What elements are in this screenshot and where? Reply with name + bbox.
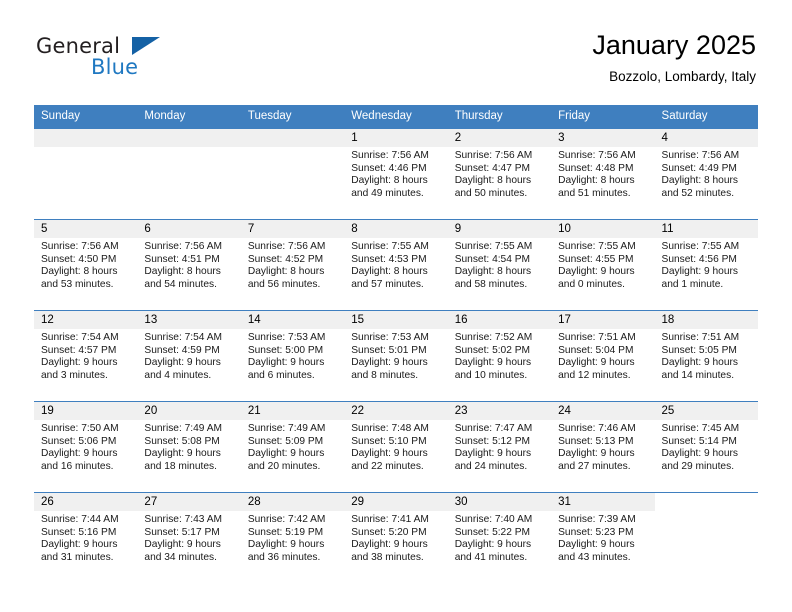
day-number: 15 xyxy=(344,311,447,329)
daylight-duration-line1: Daylight: 9 hours xyxy=(455,357,544,370)
sunset-time: Sunset: 5:13 PM xyxy=(558,436,647,449)
day-number: 31 xyxy=(551,493,654,511)
calendar-day-cell[interactable]: 3Sunrise: 7:56 AMSunset: 4:48 PMDaylight… xyxy=(551,129,654,220)
calendar-day-cell[interactable]: 29Sunrise: 7:41 AMSunset: 5:20 PMDayligh… xyxy=(344,493,447,584)
day-number: 30 xyxy=(448,493,551,511)
sunrise-time: Sunrise: 7:42 AM xyxy=(248,514,337,527)
day-number: 3 xyxy=(551,129,654,147)
calendar-day-cell[interactable]: 31Sunrise: 7:39 AMSunset: 5:23 PMDayligh… xyxy=(551,493,654,584)
calendar-week-row: 12Sunrise: 7:54 AMSunset: 4:57 PMDayligh… xyxy=(34,311,758,402)
sunset-time: Sunset: 5:00 PM xyxy=(248,345,337,358)
daylight-duration-line1: Daylight: 9 hours xyxy=(558,539,647,552)
calendar-day-cell[interactable]: 26Sunrise: 7:44 AMSunset: 5:16 PMDayligh… xyxy=(34,493,137,584)
sunset-time: Sunset: 5:12 PM xyxy=(455,436,544,449)
daylight-duration-line2: and 54 minutes. xyxy=(144,279,233,292)
weekday-header-thursday: Thursday xyxy=(448,105,551,129)
sunset-time: Sunset: 5:16 PM xyxy=(41,527,130,540)
sunrise-time: Sunrise: 7:39 AM xyxy=(558,514,647,527)
daylight-duration-line2: and 0 minutes. xyxy=(558,279,647,292)
day-number xyxy=(655,493,758,511)
daylight-duration-line2: and 8 minutes. xyxy=(351,370,440,383)
day-sun-info: Sunrise: 7:42 AMSunset: 5:19 PMDaylight:… xyxy=(241,511,344,564)
page-header: General Blue January 2025 Bozzolo, Lomba… xyxy=(36,28,756,90)
daylight-duration-line2: and 36 minutes. xyxy=(248,552,337,565)
calendar-day-cell[interactable]: 8Sunrise: 7:55 AMSunset: 4:53 PMDaylight… xyxy=(344,220,447,311)
day-sun-info: Sunrise: 7:55 AMSunset: 4:56 PMDaylight:… xyxy=(655,238,758,291)
day-sun-info: Sunrise: 7:49 AMSunset: 5:09 PMDaylight:… xyxy=(241,420,344,473)
calendar-day-cell-empty xyxy=(34,129,137,220)
daylight-duration-line1: Daylight: 9 hours xyxy=(558,448,647,461)
day-sun-info: Sunrise: 7:47 AMSunset: 5:12 PMDaylight:… xyxy=(448,420,551,473)
sunset-time: Sunset: 5:05 PM xyxy=(662,345,751,358)
day-number: 22 xyxy=(344,402,447,420)
calendar-day-cell[interactable]: 1Sunrise: 7:56 AMSunset: 4:46 PMDaylight… xyxy=(344,129,447,220)
sunrise-time: Sunrise: 7:48 AM xyxy=(351,423,440,436)
daylight-duration-line2: and 58 minutes. xyxy=(455,279,544,292)
daylight-duration-line1: Daylight: 8 hours xyxy=(455,266,544,279)
daylight-duration-line1: Daylight: 8 hours xyxy=(558,175,647,188)
daylight-duration-line2: and 10 minutes. xyxy=(455,370,544,383)
daylight-duration-line1: Daylight: 9 hours xyxy=(662,357,751,370)
day-sun-info: Sunrise: 7:44 AMSunset: 5:16 PMDaylight:… xyxy=(34,511,137,564)
day-number: 10 xyxy=(551,220,654,238)
calendar-day-cell[interactable]: 11Sunrise: 7:55 AMSunset: 4:56 PMDayligh… xyxy=(655,220,758,311)
sunrise-time: Sunrise: 7:55 AM xyxy=(558,241,647,254)
day-number: 4 xyxy=(655,129,758,147)
daylight-duration-line2: and 43 minutes. xyxy=(558,552,647,565)
daylight-duration-line1: Daylight: 9 hours xyxy=(144,357,233,370)
sunrise-time: Sunrise: 7:44 AM xyxy=(41,514,130,527)
sunset-time: Sunset: 4:57 PM xyxy=(41,345,130,358)
calendar-day-cell[interactable]: 25Sunrise: 7:45 AMSunset: 5:14 PMDayligh… xyxy=(655,402,758,493)
sunset-time: Sunset: 5:10 PM xyxy=(351,436,440,449)
sunset-time: Sunset: 4:51 PM xyxy=(144,254,233,267)
page-title: January 2025 xyxy=(592,28,756,62)
day-number: 12 xyxy=(34,311,137,329)
day-number: 16 xyxy=(448,311,551,329)
day-sun-info: Sunrise: 7:56 AMSunset: 4:46 PMDaylight:… xyxy=(344,147,447,200)
daylight-duration-line1: Daylight: 9 hours xyxy=(662,448,751,461)
daylight-duration-line2: and 57 minutes. xyxy=(351,279,440,292)
calendar-day-cell[interactable]: 21Sunrise: 7:49 AMSunset: 5:09 PMDayligh… xyxy=(241,402,344,493)
calendar-day-cell[interactable]: 2Sunrise: 7:56 AMSunset: 4:47 PMDaylight… xyxy=(448,129,551,220)
day-number: 5 xyxy=(34,220,137,238)
day-sun-info: Sunrise: 7:55 AMSunset: 4:53 PMDaylight:… xyxy=(344,238,447,291)
daylight-duration-line2: and 49 minutes. xyxy=(351,188,440,201)
sunrise-time: Sunrise: 7:47 AM xyxy=(455,423,544,436)
day-number xyxy=(137,129,240,147)
daylight-duration-line2: and 34 minutes. xyxy=(144,552,233,565)
day-sun-info: Sunrise: 7:49 AMSunset: 5:08 PMDaylight:… xyxy=(137,420,240,473)
sunset-time: Sunset: 5:14 PM xyxy=(662,436,751,449)
calendar-day-cell[interactable]: 9Sunrise: 7:55 AMSunset: 4:54 PMDaylight… xyxy=(448,220,551,311)
sunrise-time: Sunrise: 7:56 AM xyxy=(351,150,440,163)
daylight-duration-line1: Daylight: 9 hours xyxy=(351,539,440,552)
calendar-day-cell-empty xyxy=(241,129,344,220)
day-sun-info: Sunrise: 7:56 AMSunset: 4:48 PMDaylight:… xyxy=(551,147,654,200)
calendar-day-cell[interactable]: 5Sunrise: 7:56 AMSunset: 4:50 PMDaylight… xyxy=(34,220,137,311)
daylight-duration-line1: Daylight: 9 hours xyxy=(662,266,751,279)
sunrise-time: Sunrise: 7:56 AM xyxy=(662,150,751,163)
daylight-duration-line2: and 6 minutes. xyxy=(248,370,337,383)
day-sun-info: Sunrise: 7:53 AMSunset: 5:01 PMDaylight:… xyxy=(344,329,447,382)
calendar-header-row: Sunday Monday Tuesday Wednesday Thursday… xyxy=(34,105,758,129)
sunset-time: Sunset: 4:55 PM xyxy=(558,254,647,267)
daylight-duration-line1: Daylight: 9 hours xyxy=(248,448,337,461)
calendar-day-cell[interactable]: 16Sunrise: 7:52 AMSunset: 5:02 PMDayligh… xyxy=(448,311,551,402)
day-sun-info: Sunrise: 7:51 AMSunset: 5:05 PMDaylight:… xyxy=(655,329,758,382)
day-number: 7 xyxy=(241,220,344,238)
day-sun-info: Sunrise: 7:39 AMSunset: 5:23 PMDaylight:… xyxy=(551,511,654,564)
sunrise-time: Sunrise: 7:56 AM xyxy=(144,241,233,254)
sunset-time: Sunset: 4:46 PM xyxy=(351,163,440,176)
day-sun-info: Sunrise: 7:46 AMSunset: 5:13 PMDaylight:… xyxy=(551,420,654,473)
daylight-duration-line1: Daylight: 8 hours xyxy=(248,266,337,279)
day-sun-info: Sunrise: 7:56 AMSunset: 4:49 PMDaylight:… xyxy=(655,147,758,200)
calendar-day-cell[interactable]: 24Sunrise: 7:46 AMSunset: 5:13 PMDayligh… xyxy=(551,402,654,493)
day-number: 2 xyxy=(448,129,551,147)
daylight-duration-line1: Daylight: 9 hours xyxy=(351,448,440,461)
calendar-day-cell[interactable]: 18Sunrise: 7:51 AMSunset: 5:05 PMDayligh… xyxy=(655,311,758,402)
sunset-time: Sunset: 4:56 PM xyxy=(662,254,751,267)
daylight-duration-line2: and 20 minutes. xyxy=(248,461,337,474)
day-sun-info: Sunrise: 7:50 AMSunset: 5:06 PMDaylight:… xyxy=(34,420,137,473)
daylight-duration-line2: and 22 minutes. xyxy=(351,461,440,474)
day-number: 1 xyxy=(344,129,447,147)
daylight-duration-line1: Daylight: 8 hours xyxy=(351,175,440,188)
daylight-duration-line2: and 4 minutes. xyxy=(144,370,233,383)
sunrise-time: Sunrise: 7:55 AM xyxy=(351,241,440,254)
calendar-day-cell[interactable]: 6Sunrise: 7:56 AMSunset: 4:51 PMDaylight… xyxy=(137,220,240,311)
daylight-duration-line1: Daylight: 8 hours xyxy=(351,266,440,279)
day-number: 11 xyxy=(655,220,758,238)
day-number: 23 xyxy=(448,402,551,420)
daylight-duration-line2: and 29 minutes. xyxy=(662,461,751,474)
sunrise-time: Sunrise: 7:56 AM xyxy=(41,241,130,254)
calendar-day-cell[interactable]: 19Sunrise: 7:50 AMSunset: 5:06 PMDayligh… xyxy=(34,402,137,493)
sunrise-time: Sunrise: 7:55 AM xyxy=(662,241,751,254)
sunrise-time: Sunrise: 7:52 AM xyxy=(455,332,544,345)
location-subtitle: Bozzolo, Lombardy, Italy xyxy=(592,67,756,87)
day-sun-info: Sunrise: 7:56 AMSunset: 4:50 PMDaylight:… xyxy=(34,238,137,291)
sunset-time: Sunset: 4:53 PM xyxy=(351,254,440,267)
calendar-week-row: 26Sunrise: 7:44 AMSunset: 5:16 PMDayligh… xyxy=(34,493,758,584)
calendar-day-cell[interactable]: 17Sunrise: 7:51 AMSunset: 5:04 PMDayligh… xyxy=(551,311,654,402)
daylight-duration-line1: Daylight: 9 hours xyxy=(41,357,130,370)
calendar-day-cell[interactable]: 22Sunrise: 7:48 AMSunset: 5:10 PMDayligh… xyxy=(344,402,447,493)
day-number: 25 xyxy=(655,402,758,420)
daylight-duration-line1: Daylight: 9 hours xyxy=(144,448,233,461)
daylight-duration-line2: and 27 minutes. xyxy=(558,461,647,474)
day-sun-info: Sunrise: 7:56 AMSunset: 4:47 PMDaylight:… xyxy=(448,147,551,200)
daylight-duration-line2: and 3 minutes. xyxy=(41,370,130,383)
calendar-day-cell[interactable]: 28Sunrise: 7:42 AMSunset: 5:19 PMDayligh… xyxy=(241,493,344,584)
day-number xyxy=(241,129,344,147)
sunrise-time: Sunrise: 7:49 AM xyxy=(248,423,337,436)
daylight-duration-line2: and 41 minutes. xyxy=(455,552,544,565)
calendar-day-cell[interactable]: 27Sunrise: 7:43 AMSunset: 5:17 PMDayligh… xyxy=(137,493,240,584)
day-sun-info: Sunrise: 7:54 AMSunset: 4:59 PMDaylight:… xyxy=(137,329,240,382)
day-sun-info: Sunrise: 7:53 AMSunset: 5:00 PMDaylight:… xyxy=(241,329,344,382)
daylight-duration-line1: Daylight: 9 hours xyxy=(455,448,544,461)
day-number: 14 xyxy=(241,311,344,329)
calendar-day-cell[interactable]: 14Sunrise: 7:53 AMSunset: 5:00 PMDayligh… xyxy=(241,311,344,402)
daylight-duration-line1: Daylight: 9 hours xyxy=(351,357,440,370)
daylight-duration-line2: and 56 minutes. xyxy=(248,279,337,292)
sunset-time: Sunset: 5:08 PM xyxy=(144,436,233,449)
weekday-header-sunday: Sunday xyxy=(34,105,137,129)
calendar-day-cell[interactable]: 15Sunrise: 7:53 AMSunset: 5:01 PMDayligh… xyxy=(344,311,447,402)
sunrise-time: Sunrise: 7:54 AM xyxy=(144,332,233,345)
calendar-day-cell[interactable]: 30Sunrise: 7:40 AMSunset: 5:22 PMDayligh… xyxy=(448,493,551,584)
sunset-time: Sunset: 5:17 PM xyxy=(144,527,233,540)
sunset-time: Sunset: 5:01 PM xyxy=(351,345,440,358)
day-sun-info: Sunrise: 7:54 AMSunset: 4:57 PMDaylight:… xyxy=(34,329,137,382)
calendar-day-cell[interactable]: 7Sunrise: 7:56 AMSunset: 4:52 PMDaylight… xyxy=(241,220,344,311)
sunrise-time: Sunrise: 7:41 AM xyxy=(351,514,440,527)
daylight-duration-line1: Daylight: 9 hours xyxy=(455,539,544,552)
day-sun-info: Sunrise: 7:48 AMSunset: 5:10 PMDaylight:… xyxy=(344,420,447,473)
sunset-time: Sunset: 5:06 PM xyxy=(41,436,130,449)
sunrise-time: Sunrise: 7:56 AM xyxy=(248,241,337,254)
calendar-day-cell[interactable]: 4Sunrise: 7:56 AMSunset: 4:49 PMDaylight… xyxy=(655,129,758,220)
sunset-time: Sunset: 5:04 PM xyxy=(558,345,647,358)
sunset-time: Sunset: 5:22 PM xyxy=(455,527,544,540)
day-number: 13 xyxy=(137,311,240,329)
daylight-duration-line2: and 31 minutes. xyxy=(41,552,130,565)
blue-flag-icon xyxy=(132,37,160,55)
daylight-duration-line2: and 14 minutes. xyxy=(662,370,751,383)
sunset-time: Sunset: 5:19 PM xyxy=(248,527,337,540)
daylight-duration-line1: Daylight: 9 hours xyxy=(144,539,233,552)
day-number: 26 xyxy=(34,493,137,511)
sunrise-time: Sunrise: 7:51 AM xyxy=(662,332,751,345)
daylight-duration-line2: and 51 minutes. xyxy=(558,188,647,201)
sunrise-time: Sunrise: 7:40 AM xyxy=(455,514,544,527)
sunset-time: Sunset: 4:50 PM xyxy=(41,254,130,267)
day-sun-info: Sunrise: 7:56 AMSunset: 4:52 PMDaylight:… xyxy=(241,238,344,291)
day-number: 17 xyxy=(551,311,654,329)
weekday-header-tuesday: Tuesday xyxy=(241,105,344,129)
daylight-duration-line1: Daylight: 8 hours xyxy=(144,266,233,279)
day-number: 27 xyxy=(137,493,240,511)
daylight-duration-line1: Daylight: 9 hours xyxy=(41,539,130,552)
calendar-day-cell[interactable]: 23Sunrise: 7:47 AMSunset: 5:12 PMDayligh… xyxy=(448,402,551,493)
brand-logo[interactable]: General Blue xyxy=(36,34,236,86)
sunrise-time: Sunrise: 7:54 AM xyxy=(41,332,130,345)
calendar-day-cell[interactable]: 13Sunrise: 7:54 AMSunset: 4:59 PMDayligh… xyxy=(137,311,240,402)
day-sun-info: Sunrise: 7:40 AMSunset: 5:22 PMDaylight:… xyxy=(448,511,551,564)
calendar-day-cell-empty xyxy=(137,129,240,220)
day-number: 6 xyxy=(137,220,240,238)
daylight-duration-line2: and 24 minutes. xyxy=(455,461,544,474)
daylight-duration-line1: Daylight: 9 hours xyxy=(248,357,337,370)
day-sun-info: Sunrise: 7:55 AMSunset: 4:54 PMDaylight:… xyxy=(448,238,551,291)
sunrise-time: Sunrise: 7:49 AM xyxy=(144,423,233,436)
calendar-body: 1Sunrise: 7:56 AMSunset: 4:46 PMDaylight… xyxy=(34,129,758,584)
sunset-time: Sunset: 4:54 PM xyxy=(455,254,544,267)
calendar-day-cell-empty xyxy=(655,493,758,584)
weekday-header-wednesday: Wednesday xyxy=(344,105,447,129)
day-number: 9 xyxy=(448,220,551,238)
day-sun-info: Sunrise: 7:56 AMSunset: 4:51 PMDaylight:… xyxy=(137,238,240,291)
day-sun-info: Sunrise: 7:55 AMSunset: 4:55 PMDaylight:… xyxy=(551,238,654,291)
sunrise-time: Sunrise: 7:50 AM xyxy=(41,423,130,436)
brand-name-blue: Blue xyxy=(91,55,138,79)
calendar-page: General Blue January 2025 Bozzolo, Lomba… xyxy=(0,0,792,612)
day-sun-info: Sunrise: 7:43 AMSunset: 5:17 PMDaylight:… xyxy=(137,511,240,564)
sunrise-time: Sunrise: 7:46 AM xyxy=(558,423,647,436)
day-sun-info: Sunrise: 7:51 AMSunset: 5:04 PMDaylight:… xyxy=(551,329,654,382)
daylight-duration-line1: Daylight: 9 hours xyxy=(558,357,647,370)
sunrise-time: Sunrise: 7:53 AM xyxy=(351,332,440,345)
daylight-duration-line1: Daylight: 8 hours xyxy=(662,175,751,188)
calendar-day-cell[interactable]: 20Sunrise: 7:49 AMSunset: 5:08 PMDayligh… xyxy=(137,402,240,493)
sunset-time: Sunset: 4:59 PM xyxy=(144,345,233,358)
sunrise-time: Sunrise: 7:56 AM xyxy=(558,150,647,163)
weekday-header-monday: Monday xyxy=(137,105,240,129)
weekday-header-saturday: Saturday xyxy=(655,105,758,129)
daylight-duration-line1: Daylight: 8 hours xyxy=(455,175,544,188)
sunrise-time: Sunrise: 7:51 AM xyxy=(558,332,647,345)
daylight-duration-line2: and 52 minutes. xyxy=(662,188,751,201)
daylight-duration-line2: and 50 minutes. xyxy=(455,188,544,201)
sunset-time: Sunset: 5:20 PM xyxy=(351,527,440,540)
sunrise-time: Sunrise: 7:55 AM xyxy=(455,241,544,254)
title-block: January 2025 Bozzolo, Lombardy, Italy xyxy=(592,28,756,87)
sunset-time: Sunset: 5:02 PM xyxy=(455,345,544,358)
day-number: 24 xyxy=(551,402,654,420)
sunset-time: Sunset: 5:09 PM xyxy=(248,436,337,449)
sunset-time: Sunset: 4:48 PM xyxy=(558,163,647,176)
day-number: 21 xyxy=(241,402,344,420)
day-number: 20 xyxy=(137,402,240,420)
sunset-time: Sunset: 5:23 PM xyxy=(558,527,647,540)
daylight-duration-line2: and 53 minutes. xyxy=(41,279,130,292)
sunset-time: Sunset: 4:52 PM xyxy=(248,254,337,267)
calendar-week-row: 19Sunrise: 7:50 AMSunset: 5:06 PMDayligh… xyxy=(34,402,758,493)
day-sun-info: Sunrise: 7:45 AMSunset: 5:14 PMDaylight:… xyxy=(655,420,758,473)
calendar-day-cell[interactable]: 12Sunrise: 7:54 AMSunset: 4:57 PMDayligh… xyxy=(34,311,137,402)
day-sun-info: Sunrise: 7:41 AMSunset: 5:20 PMDaylight:… xyxy=(344,511,447,564)
calendar-week-row: 1Sunrise: 7:56 AMSunset: 4:46 PMDaylight… xyxy=(34,129,758,220)
sunset-time: Sunset: 4:47 PM xyxy=(455,163,544,176)
sunrise-time: Sunrise: 7:56 AM xyxy=(455,150,544,163)
daylight-duration-line1: Daylight: 9 hours xyxy=(248,539,337,552)
calendar-week-row: 5Sunrise: 7:56 AMSunset: 4:50 PMDaylight… xyxy=(34,220,758,311)
sunrise-sunset-calendar: Sunday Monday Tuesday Wednesday Thursday… xyxy=(34,105,758,583)
day-number: 8 xyxy=(344,220,447,238)
day-number: 29 xyxy=(344,493,447,511)
daylight-duration-line2: and 12 minutes. xyxy=(558,370,647,383)
day-number xyxy=(34,129,137,147)
day-sun-info: Sunrise: 7:52 AMSunset: 5:02 PMDaylight:… xyxy=(448,329,551,382)
daylight-duration-line1: Daylight: 9 hours xyxy=(558,266,647,279)
daylight-duration-line1: Daylight: 8 hours xyxy=(41,266,130,279)
daylight-duration-line2: and 38 minutes. xyxy=(351,552,440,565)
weekday-header-friday: Friday xyxy=(551,105,654,129)
sunrise-time: Sunrise: 7:53 AM xyxy=(248,332,337,345)
sunrise-time: Sunrise: 7:45 AM xyxy=(662,423,751,436)
sunset-time: Sunset: 4:49 PM xyxy=(662,163,751,176)
daylight-duration-line1: Daylight: 9 hours xyxy=(41,448,130,461)
daylight-duration-line2: and 18 minutes. xyxy=(144,461,233,474)
daylight-duration-line2: and 1 minute. xyxy=(662,279,751,292)
sunrise-time: Sunrise: 7:43 AM xyxy=(144,514,233,527)
day-number: 18 xyxy=(655,311,758,329)
calendar-day-cell[interactable]: 10Sunrise: 7:55 AMSunset: 4:55 PMDayligh… xyxy=(551,220,654,311)
day-number: 28 xyxy=(241,493,344,511)
day-number: 19 xyxy=(34,402,137,420)
daylight-duration-line2: and 16 minutes. xyxy=(41,461,130,474)
